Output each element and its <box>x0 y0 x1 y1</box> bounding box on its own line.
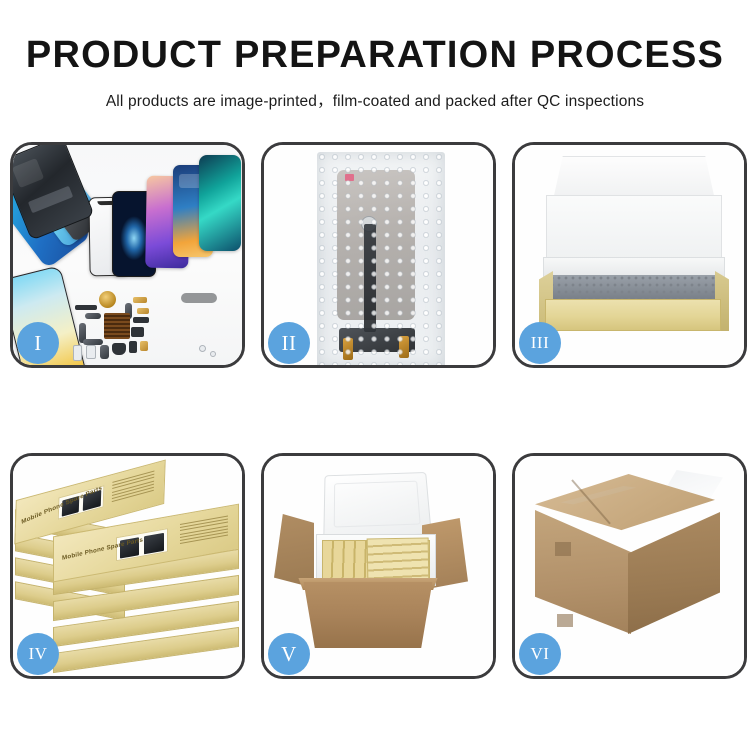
tiny-part-icon <box>129 341 137 353</box>
gold-screw-part-icon <box>140 341 148 351</box>
earpiece-part-icon <box>112 343 126 355</box>
process-step-panel-4[interactable]: Mobile Phone Spare Parts Mobile Pho <box>10 453 245 679</box>
lid-spec-lines <box>112 471 155 505</box>
wrapped-screen-icon <box>337 170 415 320</box>
step-badge-6: VI <box>519 633 561 675</box>
step-badge-4: IV <box>17 633 59 675</box>
gold-contact-left-icon <box>343 338 353 360</box>
gold-flex-part-icon <box>133 297 147 303</box>
carton-label-lower-icon <box>557 614 573 627</box>
lid-screen-image <box>144 533 164 555</box>
carton-label-upper-icon <box>555 542 571 556</box>
page-title: PRODUCT PREPARATION PROCESS <box>0 36 750 76</box>
process-step-panel-2[interactable]: II <box>261 142 496 368</box>
process-step-panel-6[interactable]: VI <box>512 453 747 679</box>
process-step-panel-5[interactable]: V <box>261 453 496 679</box>
camera-part-icon <box>131 327 144 337</box>
box-lid-back-icon <box>553 156 715 200</box>
lid-spec-lines <box>180 516 228 547</box>
gray-foam-insert-icon <box>549 275 717 301</box>
gold-coil-part-icon <box>99 291 116 308</box>
step-badge-2: II <box>268 322 310 364</box>
gold-contact-right-icon <box>399 336 409 358</box>
chip-array-part-icon <box>104 313 130 339</box>
speaker-part-icon <box>75 305 97 310</box>
white-connector-part-icon <box>86 345 96 359</box>
small-flex-part-icon <box>85 313 101 319</box>
screw-icon <box>210 351 216 357</box>
step-badge-1: I <box>17 322 59 364</box>
page-header: PRODUCT PREPARATION PROCESS All products… <box>0 0 750 111</box>
tool-icon <box>181 293 217 303</box>
screw-icon <box>199 345 206 352</box>
sensor-part-icon <box>133 317 149 323</box>
step-badge-3: III <box>519 322 561 364</box>
pink-sticker-icon <box>345 174 354 181</box>
product-preparation-page: PRODUCT PREPARATION PROCESS All products… <box>0 0 750 750</box>
foam-cooler-lid-icon <box>323 472 432 538</box>
box-front-wall-icon <box>545 299 721 331</box>
vibrator-part-icon <box>100 345 109 359</box>
bubble-wrap-bag-icon <box>317 152 445 365</box>
teal-wave-phone-icon <box>199 155 241 251</box>
gold-connector-part-icon <box>137 308 149 314</box>
sim-tray-part-icon <box>73 345 82 361</box>
gold-boxes-stack-icon <box>367 537 430 582</box>
screen-flex-cable-icon <box>364 224 376 332</box>
step-badge-5: V <box>268 633 310 675</box>
page-subtitle: All products are image-printed，film-coat… <box>0 89 750 111</box>
process-step-panel-1[interactable]: I <box>10 142 245 368</box>
process-step-grid: I II <box>10 142 745 682</box>
carton-front-icon <box>298 582 438 648</box>
process-step-panel-3[interactable]: III <box>512 142 747 368</box>
